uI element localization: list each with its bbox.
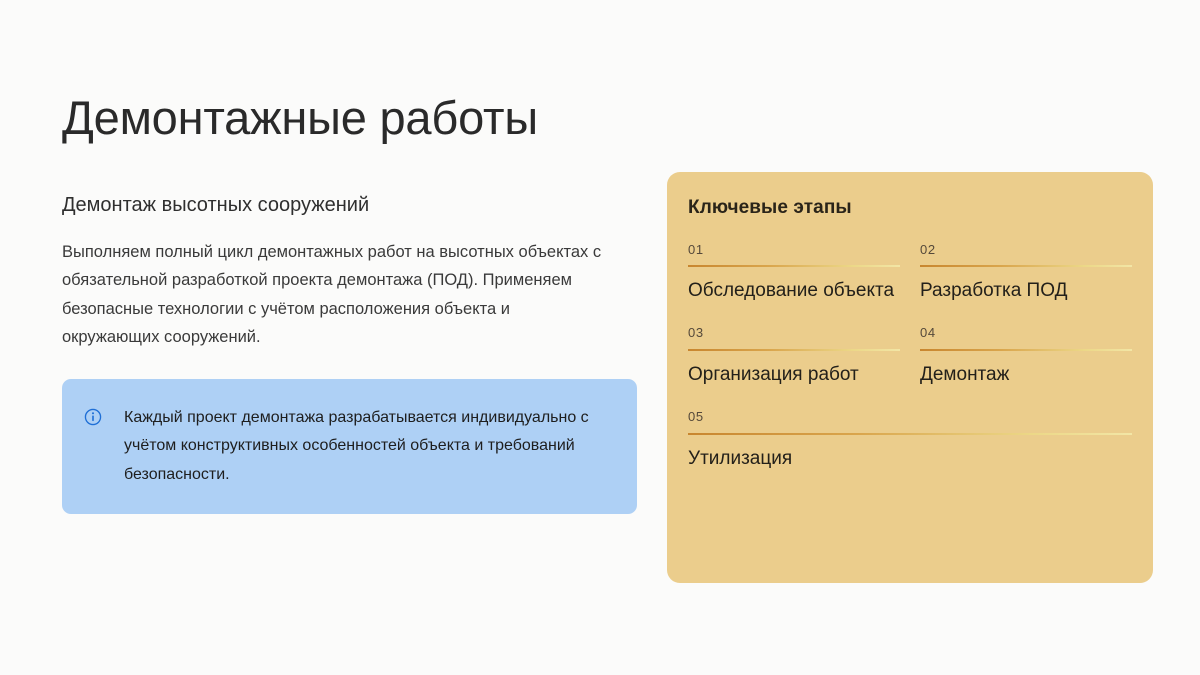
info-circle-icon	[84, 408, 102, 426]
stage-divider	[688, 265, 900, 267]
stage-label: Организация работ	[688, 362, 900, 387]
stage-label: Разработка ПОД	[920, 278, 1132, 303]
stage-item: 03 Организация работ	[688, 325, 900, 387]
section-subtitle: Демонтаж высотных сооружений	[62, 192, 638, 218]
stage-divider	[920, 349, 1132, 351]
stage-divider	[688, 349, 900, 351]
stage-number: 03	[688, 325, 900, 349]
stage-divider	[688, 433, 1132, 435]
stage-item: 01 Обследование объекта	[688, 242, 900, 304]
info-callout-text: Каждый проект демонтажа разрабатывается …	[124, 404, 611, 489]
stage-item: 02 Разработка ПОД	[920, 242, 1132, 304]
key-stages-title: Ключевые этапы	[688, 196, 1132, 221]
slide-root: Демонтажные работы Демонтаж высотных соо…	[0, 0, 1200, 675]
stage-label: Обследование объекта	[688, 278, 900, 303]
left-content-column: Демонтаж высотных сооружений Выполняем п…	[62, 192, 638, 352]
stage-item: 05 Утилизация	[688, 409, 1132, 471]
stage-item: 04 Демонтаж	[920, 325, 1132, 387]
stage-number: 04	[920, 325, 1132, 349]
stage-label: Демонтаж	[920, 362, 1132, 387]
stage-number: 02	[920, 242, 1132, 266]
page-title: Демонтажные работы	[62, 92, 538, 145]
stage-number: 05	[688, 409, 1132, 433]
stage-divider	[920, 265, 1132, 267]
body-paragraph: Выполняем полный цикл демонтажных работ …	[62, 238, 602, 352]
key-stages-card: Ключевые этапы 01 Обследование объекта 0…	[667, 172, 1153, 583]
stage-number: 01	[688, 242, 900, 266]
key-stages-grid: 01 Обследование объекта 02 Разработка ПО…	[688, 242, 1132, 471]
stage-label: Утилизация	[688, 446, 1132, 471]
info-callout: Каждый проект демонтажа разрабатывается …	[62, 379, 637, 514]
